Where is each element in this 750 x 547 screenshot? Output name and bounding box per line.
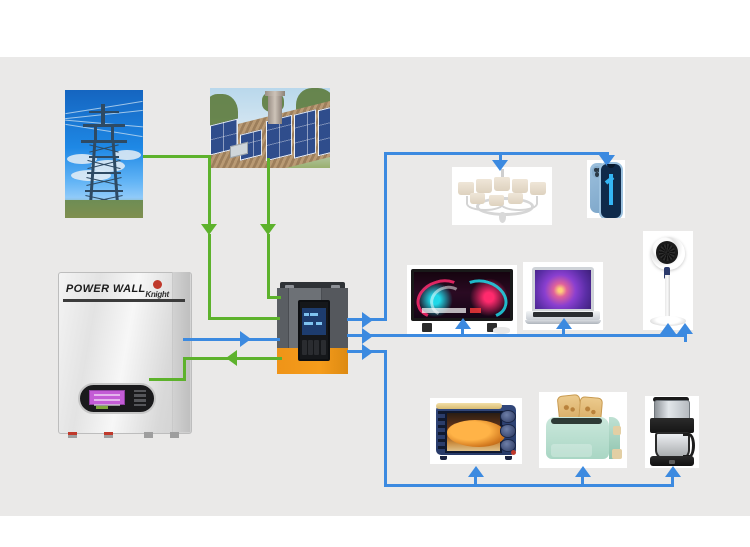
wire-inverter-to-battery-h2	[149, 378, 186, 381]
arrow-chandelier	[492, 160, 508, 171]
wire-solar-to-inverter-v	[267, 158, 270, 226]
wire-grid-to-inverter-h	[208, 317, 280, 320]
arrow-out-mid	[362, 328, 373, 344]
diagram-canvas: POWER WALL Knight	[0, 0, 750, 547]
inverter-display[interactable]	[298, 300, 330, 361]
wire-bot-bus	[384, 484, 674, 487]
power-wall-brand-text: POWER WALL	[66, 283, 146, 295]
wire-grid-from-tower	[143, 155, 211, 158]
rooftop-solar-panels-image	[210, 88, 330, 168]
wire-solar-to-inverter-h	[267, 296, 281, 299]
coffee-maker-image	[645, 396, 699, 468]
wire-top-bus-riser	[384, 152, 387, 321]
knight-logo: Knight	[145, 280, 169, 299]
arrow-out-top	[362, 312, 373, 328]
toaster-oven-image	[430, 398, 522, 464]
hybrid-solar-inverter[interactable]	[277, 282, 348, 374]
arrow-battery-to-inverter	[240, 331, 251, 347]
arrow-tv	[455, 318, 471, 329]
smartphone-image	[587, 160, 625, 218]
arrow-out-bot	[362, 344, 373, 360]
wire-battery-to-inverter	[183, 338, 280, 341]
logo-text: Knight	[145, 290, 169, 299]
wire-grid-to-inverter-v2	[208, 234, 211, 320]
toaster-image	[539, 392, 627, 468]
arrow-laptop	[556, 318, 572, 329]
arrow-fan-up	[677, 323, 693, 334]
logo-dot-icon	[153, 280, 162, 289]
pedestal-fan-image	[643, 231, 693, 330]
wire-solar-to-inverter-v2	[267, 234, 270, 298]
arrow-fan	[660, 323, 676, 334]
battery-lcd-display	[89, 390, 124, 405]
arrow-coffee	[665, 466, 681, 477]
arrow-inverter-to-battery	[226, 350, 237, 366]
wire-mid-bus	[384, 334, 687, 337]
wire-fan-riser	[684, 334, 687, 342]
wire-bot-riser	[384, 350, 387, 487]
utility-grid-tower-image	[65, 90, 143, 218]
battery-indicator-bar	[96, 406, 108, 410]
battery-control-panel[interactable]	[78, 383, 156, 414]
arrow-oven	[468, 466, 484, 477]
wire-grid-to-inverter-v	[208, 155, 211, 226]
arrow-toaster	[575, 466, 591, 477]
chandelier-image	[452, 167, 552, 225]
power-wall-battery[interactable]: POWER WALL Knight	[58, 272, 190, 432]
battery-status-leds	[134, 390, 146, 406]
wire-top-bus	[384, 152, 609, 155]
